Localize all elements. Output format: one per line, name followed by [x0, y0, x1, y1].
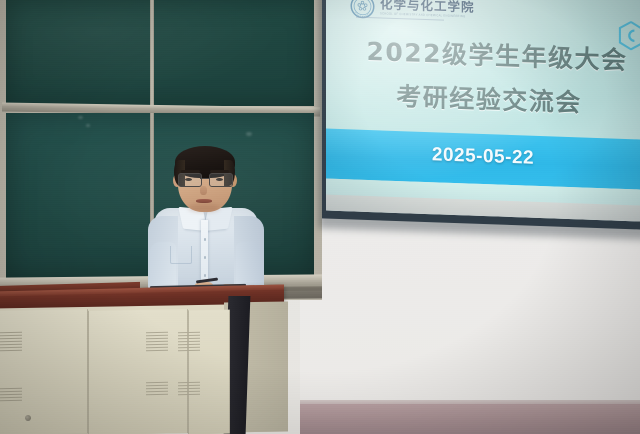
chin-shadow: [188, 204, 220, 212]
shirt-button: [204, 238, 207, 241]
vent-slots: [178, 382, 200, 406]
screen-surface: 化学与化工学院 SCHOOL OF CHEMISTRY AND CHEMICAL…: [326, 0, 640, 221]
cabinet-panel: [0, 309, 88, 434]
glasses-bridge: [200, 178, 209, 179]
vent-slots: [0, 388, 22, 412]
mouth: [196, 199, 212, 203]
chalkboard-upper-panel: [6, 0, 314, 106]
nose: [200, 186, 207, 195]
vent-slots: [146, 382, 168, 406]
cabinet-panel: [188, 310, 230, 434]
shirt-button: [204, 256, 207, 259]
lens-left: [178, 173, 202, 187]
eyeglasses-icon: [176, 173, 234, 186]
vent-slots: [0, 332, 22, 356]
cabinet-panel: [88, 309, 188, 434]
chalk-glint: [86, 124, 90, 127]
chalk-glint: [78, 116, 83, 119]
presenter: [148, 146, 264, 294]
vent-slots: [178, 332, 200, 356]
shirt-button: [204, 274, 207, 277]
shirt-pocket: [170, 246, 192, 264]
chalk-glint: [246, 132, 252, 136]
floor: [300, 404, 640, 434]
classroom-photo: 化学与化工学院 SCHOOL OF CHEMISTRY AND CHEMICAL…: [0, 0, 640, 434]
lens-right: [209, 173, 233, 187]
screen-vignette: [326, 0, 640, 221]
vent-slots: [146, 332, 168, 356]
chalkboard-seam-upper: [150, 0, 154, 106]
